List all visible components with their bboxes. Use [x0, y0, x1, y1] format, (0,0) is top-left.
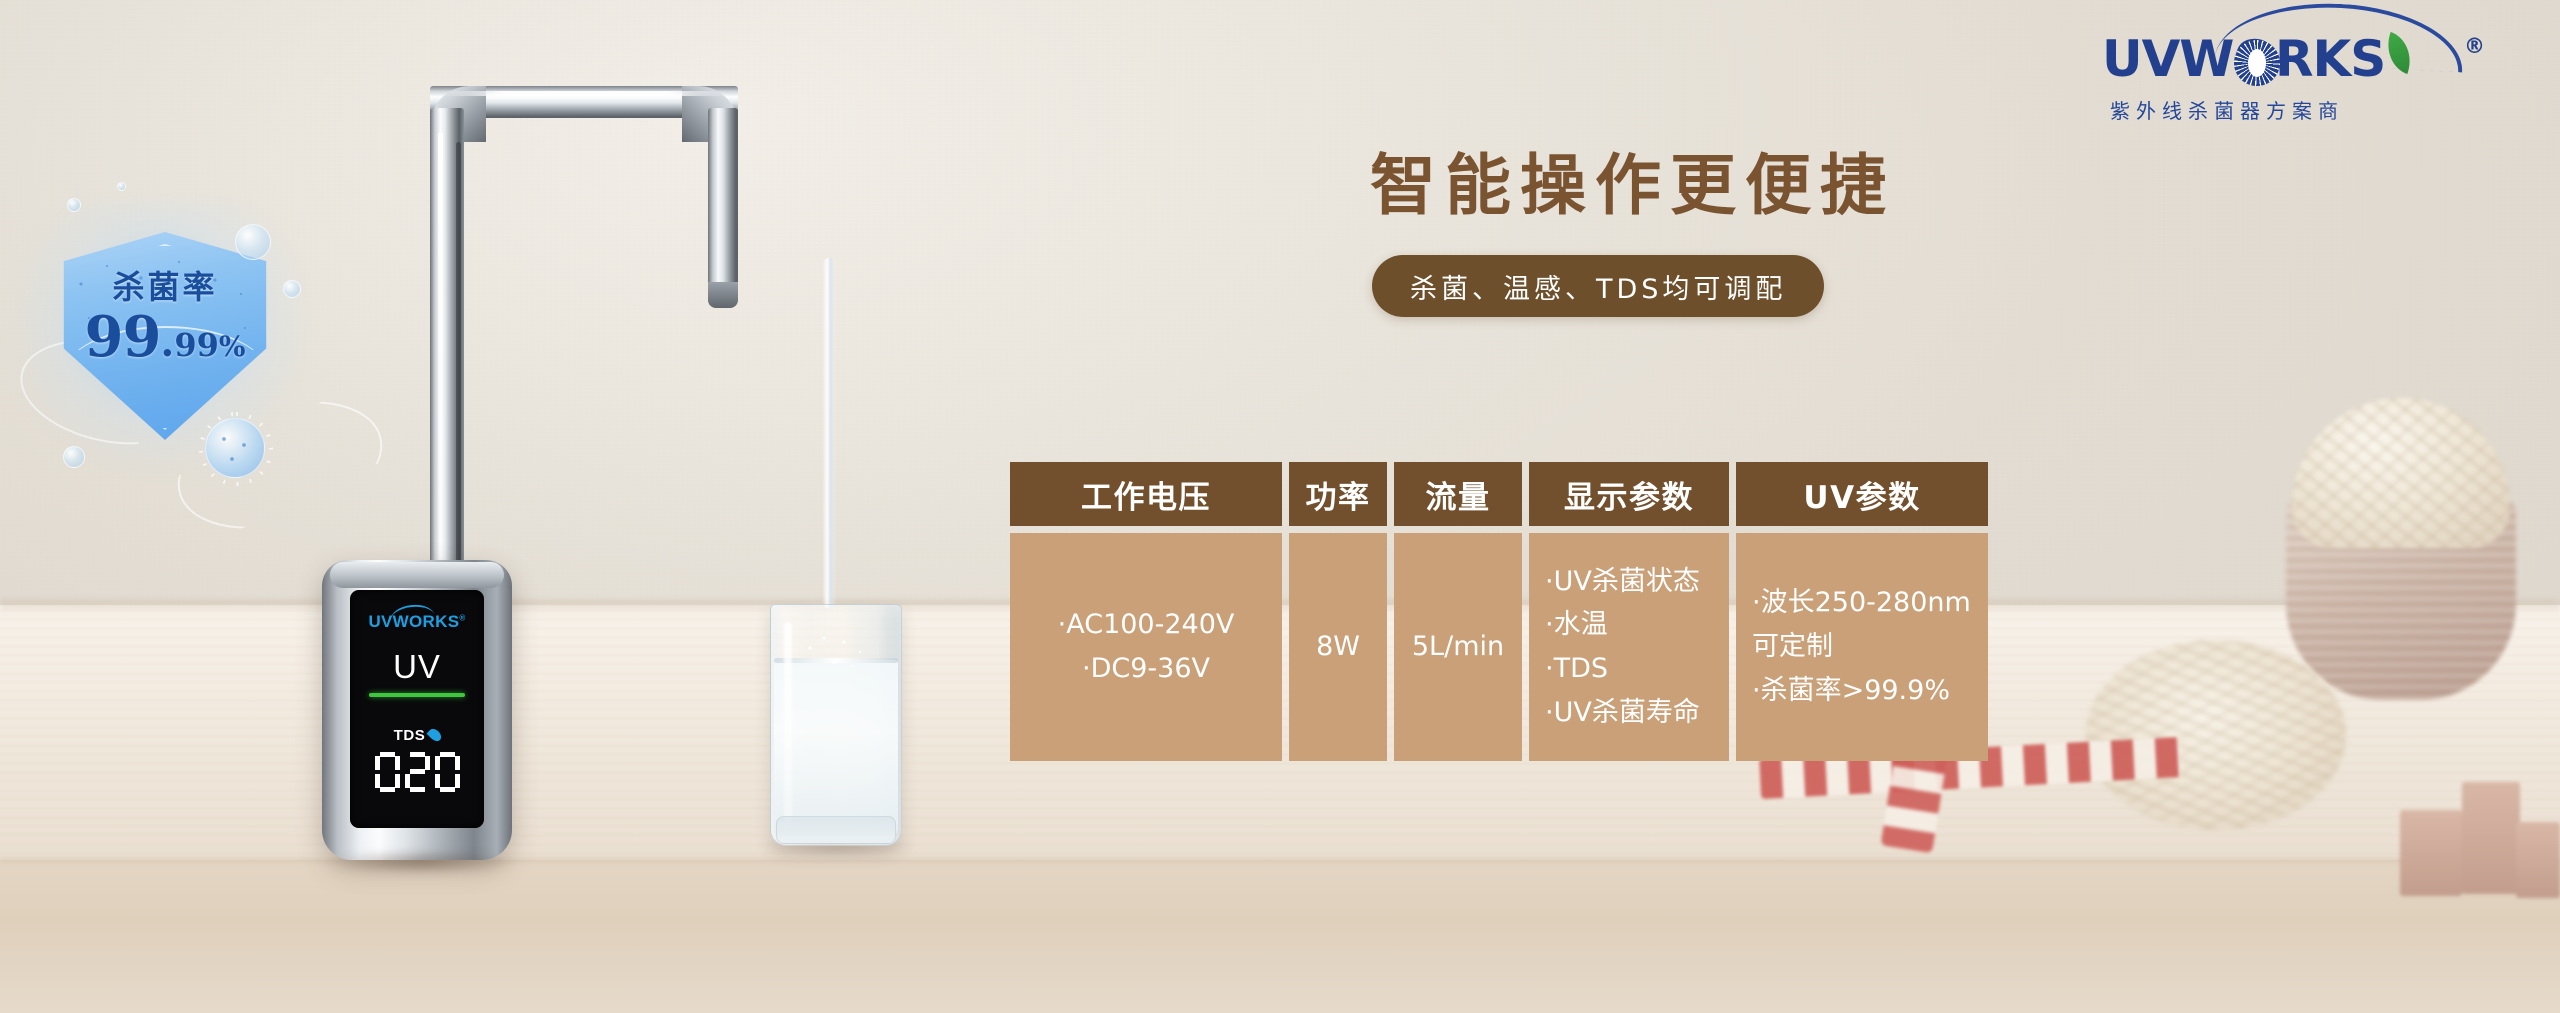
seven-segment-digit: [405, 752, 430, 792]
spec-column: 流量5L/min: [1394, 462, 1522, 761]
badge-value-dot: .: [160, 319, 174, 366]
bubble-icon: [67, 198, 81, 212]
counter-front-panel: [0, 860, 2560, 1013]
spec-column: 工作电压·AC100-240V·DC9-36V: [1010, 462, 1282, 761]
germ-dots: [206, 419, 264, 477]
glass-highlight: [784, 622, 792, 828]
sterilization-rate-badge: 杀菌率 99.99%: [55, 232, 275, 440]
brand-logo-wordmark: UVWORKS ®: [2098, 34, 2518, 84]
bubble-icon: [283, 280, 301, 298]
spec-column-body: ·AC100-240V·DC9-36V: [1010, 533, 1282, 761]
spec-column-header: 显示参数: [1529, 462, 1729, 526]
bubble-icon: [235, 224, 271, 260]
faucet-highlight-vertical: [438, 132, 443, 602]
badge-value-percent: %: [219, 330, 246, 363]
device-tds-row: TDS: [394, 727, 441, 744]
page-title: 智能操作更便捷: [1370, 132, 1895, 228]
seven-segment-digit: [435, 752, 460, 792]
spec-column-body: 5L/min: [1394, 533, 1522, 761]
spec-line: 可定制: [1752, 625, 1833, 669]
device-top-cap: [330, 562, 504, 588]
spec-line: ·AC100-240V: [1058, 603, 1235, 647]
spec-line: 5L/min: [1412, 625, 1504, 669]
spec-column: 功率8W: [1289, 462, 1387, 761]
spec-line: ·UV杀菌寿命: [1545, 691, 1700, 735]
spec-column-header: 工作电压: [1010, 462, 1282, 526]
block-2: [2462, 782, 2520, 894]
device-screen-logo: UVWORKS®: [368, 612, 465, 632]
spec-line: ·UV杀菌状态: [1545, 560, 1700, 604]
faucet-highlight-top: [442, 91, 728, 96]
water-drop-icon: [427, 727, 444, 744]
logo-registered-mark: ®: [2464, 36, 2484, 57]
uv-sterilizer-device: UVWORKS® UV TDS: [322, 560, 512, 860]
badge-value: 99.99%: [55, 304, 275, 370]
product-banner: UVWORKS® UV TDS: [0, 0, 2560, 1013]
faucet-shade-line: [456, 142, 461, 602]
faucet-spout-tip: [708, 282, 738, 308]
spec-line: ·TDS: [1545, 647, 1608, 691]
device-tds-label: TDS: [394, 727, 426, 744]
device-mode-label: UV: [393, 648, 441, 686]
badge-value-major: 99: [84, 304, 160, 370]
badge-label: 杀菌率: [55, 262, 275, 308]
spec-column: UV参数·波长250-280nm 可定制·杀菌率>99.9%: [1736, 462, 1988, 761]
spec-column-body: 8W: [1289, 533, 1387, 761]
block-1: [2400, 810, 2462, 896]
brand-logo: UVWORKS ® 紫外线杀菌器方案商: [2098, 34, 2518, 154]
spec-line: ·波长250-280nm: [1752, 581, 1971, 625]
block-3: [2516, 822, 2560, 898]
device-logo-registered: ®: [459, 613, 465, 622]
spec-line: ·水温: [1545, 603, 1608, 647]
spec-line: 8W: [1316, 625, 1360, 669]
loose-yarn-prop: [2086, 640, 2346, 830]
device-tds-readout: [375, 752, 460, 792]
wooden-blocks-prop: [2400, 770, 2550, 900]
logo-sunburst-icon: [2234, 40, 2280, 86]
device-status-bar: [369, 693, 465, 697]
bubble-icon: [63, 446, 85, 468]
spec-column-header: UV参数: [1736, 462, 1988, 526]
device-display-panel: UVWORKS® UV TDS: [350, 590, 484, 828]
spec-table: 工作电压·AC100-240V·DC9-36V功率8W流量5L/min显示参数·…: [1010, 462, 1988, 761]
bubble-icon: [117, 182, 126, 191]
germ-icon: [205, 418, 265, 478]
spec-column-body: ·波长250-280nm 可定制·杀菌率>99.9%: [1736, 533, 1988, 761]
spec-column-body: ·UV杀菌状态·水温·TDS·UV杀菌寿命: [1529, 533, 1729, 761]
spec-column-header: 功率: [1289, 462, 1387, 526]
loose-yarn-strands: [2086, 640, 2346, 830]
seven-segment-digit: [375, 752, 400, 792]
faucet-image: [408, 46, 748, 606]
device-drop-shadow: [328, 850, 514, 874]
water-glass: [770, 604, 902, 846]
water-stream: [823, 258, 835, 608]
subtitle-pill: 杀菌、温感、TDS均可调配: [1372, 255, 1824, 317]
brand-logo-tagline: 紫外线杀菌器方案商: [2098, 95, 2518, 124]
spec-column-header: 流量: [1394, 462, 1522, 526]
logo-sunburst-core: [2248, 49, 2266, 77]
water-splash-droplets: [800, 632, 872, 676]
glass-water-fill: [774, 660, 898, 840]
glass-base: [776, 816, 896, 844]
spec-line: ·DC9-36V: [1082, 647, 1210, 691]
spec-line: ·杀菌率>99.9%: [1752, 669, 1950, 713]
spec-column: 显示参数·UV杀菌状态·水温·TDS·UV杀菌寿命: [1529, 462, 1729, 761]
badge-value-minor: 99: [174, 326, 219, 364]
faucet-downspout: [708, 108, 738, 298]
